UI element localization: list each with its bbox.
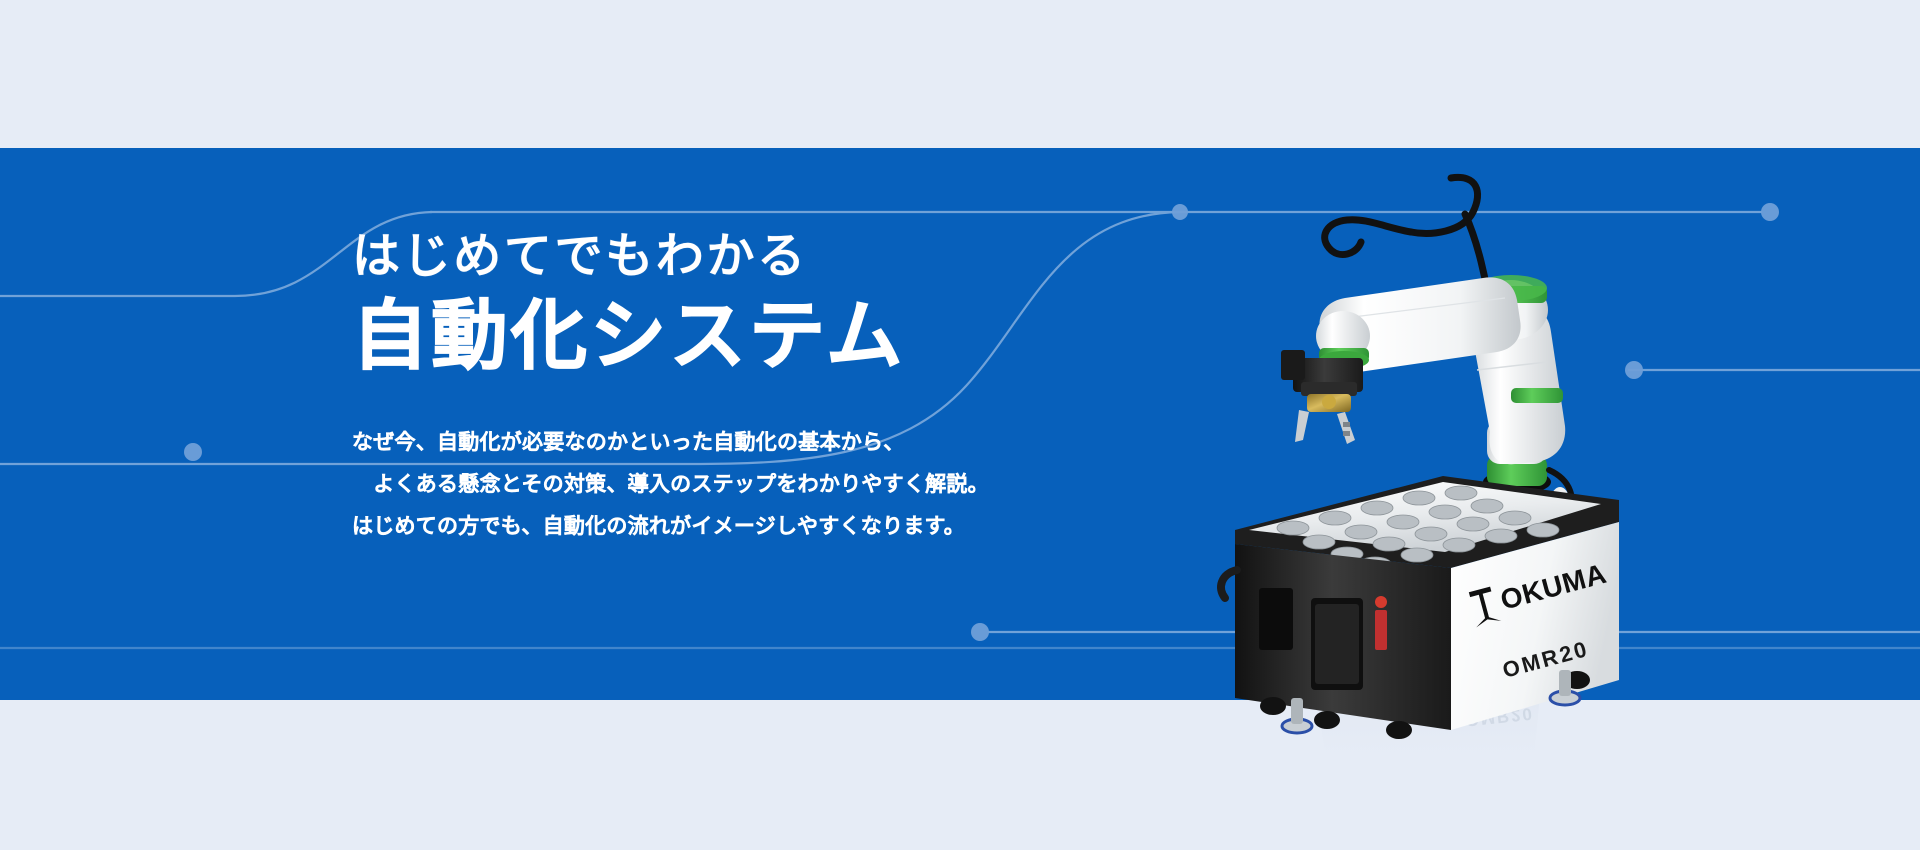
hero-body-line-3: はじめての方でも、自動化の流れがイメージしやすくなります。 (352, 506, 1152, 548)
hero-kicker: はじめてでもわかる (352, 228, 1152, 287)
collaborative-robot-arm (1281, 177, 1572, 514)
hero-body-line-2: よくある懸念とその対策、導入のステップをわかりやすく解説。 (352, 464, 1152, 506)
omr20-cart: OKUMA OMR20 (1221, 476, 1619, 739)
hero-headline: 自動化システム (352, 291, 1152, 382)
emergency-stop-button (1375, 596, 1387, 608)
cart-push-handle (1221, 570, 1237, 598)
emergency-stop-strip (1375, 610, 1387, 650)
hero-banner: はじめてでもわかる 自動化システム なぜ今、自動化が必要なのかといった自動化の基… (0, 0, 1920, 850)
product-image-omr20-cobot: OMR20 (1215, 170, 1665, 810)
hero-copy-block: はじめてでもわかる 自動化システム なぜ今、自動化が必要なのかといった自動化の基… (352, 228, 1152, 548)
hero-body-text: なぜ今、自動化が必要なのかといった自動化の基本から、 よくある懸念とその対策、導… (352, 422, 1152, 548)
hero-body-line-1: なぜ今、自動化が必要なのかといった自動化の基本から、 (352, 422, 1152, 464)
gripper-finger-right (1337, 412, 1355, 444)
gripper-finger-left (1295, 410, 1309, 442)
robot-mid-green-band (1511, 388, 1563, 403)
chassis-vent-left (1259, 588, 1293, 650)
robot-gripper (1281, 350, 1363, 444)
